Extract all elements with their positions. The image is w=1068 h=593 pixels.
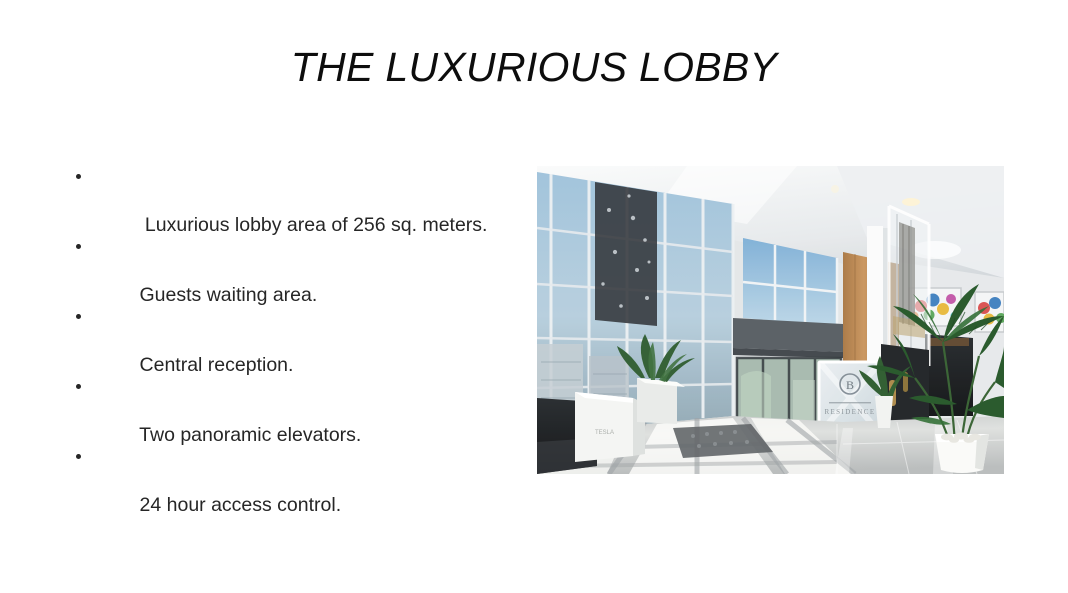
bullet-point-icon — [76, 454, 81, 459]
lobby-photo-illustration: B RESIDENCE — [537, 166, 1004, 474]
list-item-label: Luxurious lobby area of 256 sq. meters. — [140, 214, 488, 236]
list-item: Luxurious lobby area of 256 sq. meters. — [70, 165, 525, 235]
list-item-label: Two panoramic elevators. — [139, 424, 361, 446]
bullet-point-icon — [76, 244, 81, 249]
list-item: Central reception. — [70, 305, 525, 375]
list-item: Two panoramic elevators. — [70, 375, 525, 445]
list-item: 24 hour access control. — [70, 445, 525, 515]
bullet-list: Luxurious lobby area of 256 sq. meters. … — [70, 165, 525, 515]
slide-title: THE LUXURIOUS LOBBY — [0, 44, 1068, 91]
bullet-point-icon — [76, 384, 81, 389]
list-item-label: 24 hour access control. — [140, 494, 342, 516]
bullet-point-icon — [76, 174, 81, 179]
list-item: Guests waiting area. — [70, 235, 525, 305]
bullet-point-icon — [76, 314, 81, 319]
list-item-label: Central reception. — [140, 354, 294, 376]
list-item-label: Guests waiting area. — [140, 284, 318, 306]
lobby-photo: B RESIDENCE — [537, 166, 1004, 474]
presentation-slide: THE LUXURIOUS LOBBY Luxurious lobby area… — [0, 0, 1068, 593]
